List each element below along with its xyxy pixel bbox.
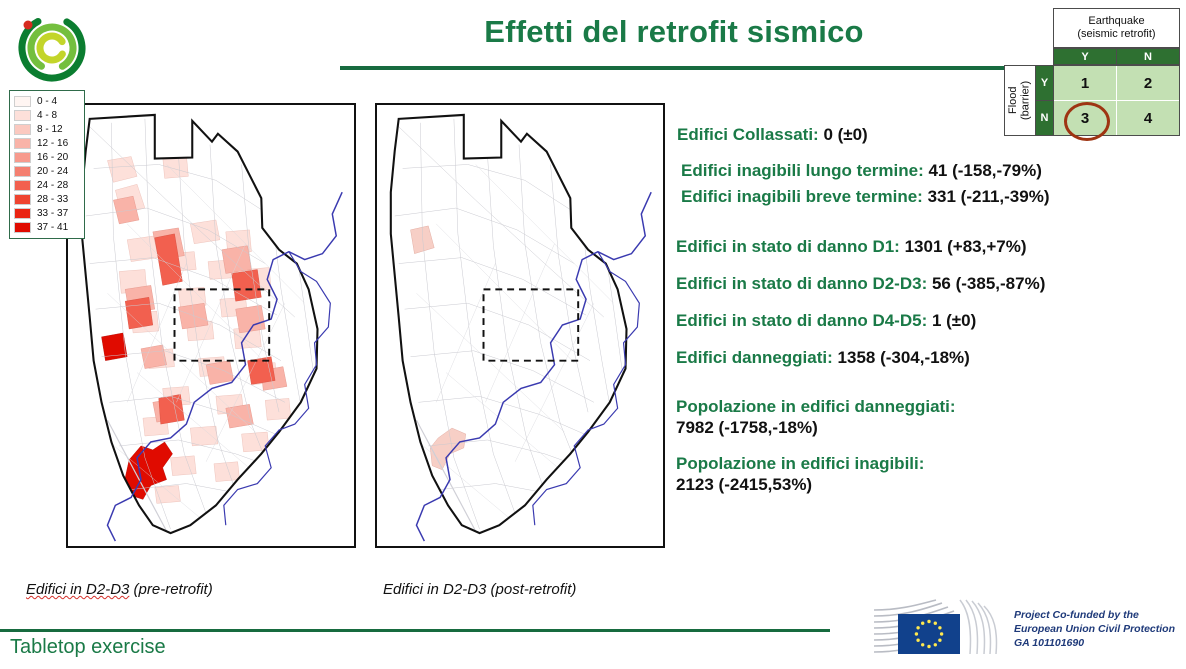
eu-funding-line2: European Union Civil Protection [1014,622,1178,636]
legend-swatch [14,166,31,177]
caption-pre-retrofit: Edifici in D2-D3 (pre-retrofit) [26,581,213,598]
caption-pre-retrofit-main: Edifici in D2-D3 [26,581,129,598]
stat-pop-danneggiati-label: Popolazione in edifici danneggiati: [676,396,1181,417]
project-logo-icon [12,8,92,86]
slide-title: Effetti del retrofit sismico [338,14,1010,50]
title-divider [340,66,1010,70]
legend-swatch [14,222,31,233]
legend-swatch [14,96,31,107]
stat-danno-d2d3-value: 56 (-385,-87%) [932,274,1045,293]
stat-danno-d1: Edifici in stato di danno D1: 1301 (+83,… [676,238,1181,255]
legend-swatch [14,180,31,191]
stat-inagibili-lungo-value: 41 (-158,-79%) [928,161,1041,180]
eu-funding-line3: GA 101101690 [1014,636,1178,650]
stat-danno-d2d3: Edifici in stato di danno D2-D3: 56 (-38… [676,275,1181,292]
legend-label: 0 - 4 [37,96,57,107]
matrix-cell-2[interactable]: 2 [1116,65,1180,101]
legend-label: 12 - 16 [37,138,68,149]
stat-pop-inagibili: Popolazione in edifici inagibili: 2123 (… [676,453,1181,496]
matrix-row-header-y: Y [1035,65,1054,101]
stat-danno-d1-label: Edifici in stato di danno D1: [676,237,900,256]
legend-row: 16 - 20 [14,150,81,164]
legend-label: 20 - 24 [37,166,68,177]
legend-row: 20 - 24 [14,164,81,178]
legend-swatch [14,194,31,205]
stat-pop-inagibili-label: Popolazione in edifici inagibili: [676,453,1181,474]
legend-label: 33 - 37 [37,208,68,219]
footer-divider [0,629,830,632]
stat-inagibili-breve: Edifici inagibili breve termine: 331 (-2… [681,188,1181,205]
matrix-row-group-line2: (barrier) [1020,81,1032,120]
statistics-panel: Edifici Collassati: 0 (±0) Edifici inagi… [676,126,1181,509]
caption-pre-retrofit-suffix: (pre-retrofit) [129,581,212,598]
legend-swatch [14,208,31,219]
matrix-column-group-header: Earthquake (seismic retrofit) [1053,8,1180,48]
stat-danno-d4d5-label: Edifici in stato di danno D4-D5: [676,311,927,330]
stat-danno-d2d3-label: Edifici in stato di danno D2-D3: [676,274,927,293]
stat-danno-d4d5-value: 1 (±0) [932,311,976,330]
legend-swatch [14,152,31,163]
legend-label: 28 - 33 [37,194,68,205]
stat-inagibili-breve-value: 331 (-211,-39%) [928,187,1050,206]
legend-label: 37 - 41 [37,222,68,233]
legend-row: 4 - 8 [14,108,81,122]
footer-label: Tabletop exercise [10,636,166,659]
legend-swatch [14,110,31,121]
matrix-col-header-n: N [1116,48,1180,65]
slide-canvas: Effetti del retrofit sismico Earthquake … [0,0,1186,669]
stat-danno-d4d5: Edifici in stato di danno D4-D5: 1 (±0) [676,312,1181,329]
stat-pop-danneggiati-value: 7982 (-1758,-18%) [676,417,1181,438]
stat-collassati: Edifici Collassati: 0 (±0) [677,126,1181,143]
legend-row: 33 - 37 [14,206,81,220]
eu-funding-line1: Project Co-funded by the [1014,608,1178,622]
map-pre-retrofit[interactable] [66,103,356,548]
stat-inagibili-lungo-label: Edifici inagibili lungo termine: [681,161,924,180]
legend-label: 4 - 8 [37,110,57,121]
matrix-column-group-line1: Earthquake [1077,15,1155,28]
stat-pop-danneggiati: Popolazione in edifici danneggiati: 7982… [676,396,1181,439]
map-pre-retrofit-graphic [68,105,354,546]
legend-label: 16 - 20 [37,152,68,163]
stat-collassati-value: 0 (±0) [823,125,867,144]
stat-danno-d1-value: 1301 (+83,+7%) [905,237,1027,256]
stat-inagibili-breve-label: Edifici inagibili breve termine: [681,187,923,206]
map-legend: 0 - 44 - 88 - 1212 - 1616 - 2020 - 2424 … [9,90,85,239]
legend-swatch [14,138,31,149]
legend-row: 37 - 41 [14,220,81,234]
stat-collassati-label: Edifici Collassati: [677,125,819,144]
legend-label: 8 - 12 [37,124,63,135]
stat-danneggiati-value: 1358 (-304,-18%) [838,348,970,367]
european-commission-logo-icon [872,598,1006,658]
stat-pop-inagibili-value: 2123 (-2415,53%) [676,474,1181,495]
map-post-retrofit[interactable] [375,103,665,548]
stat-danneggiati: Edifici danneggiati: 1358 (-304,-18%) [676,349,1181,366]
matrix-row-group-line1: Flood [1007,87,1019,115]
legend-row: 24 - 28 [14,178,81,192]
legend-row: 0 - 4 [14,94,81,108]
legend-row: 12 - 16 [14,136,81,150]
scenario-matrix: Earthquake (seismic retrofit) Y N Flood … [1004,8,1180,136]
map-post-retrofit-graphic [377,105,663,546]
stat-danneggiati-label: Edifici danneggiati: [676,348,833,367]
legend-row: 8 - 12 [14,122,81,136]
legend-swatch [14,124,31,135]
eu-funding-text: Project Co-funded by the European Union … [1014,608,1178,651]
legend-row: 28 - 33 [14,192,81,206]
legend-label: 24 - 28 [37,180,68,191]
caption-post-retrofit: Edifici in D2-D3 (post-retrofit) [383,581,576,598]
eu-funding-block: Project Co-funded by the European Union … [872,598,1178,660]
matrix-col-header-y: Y [1053,48,1117,65]
matrix-cell-1[interactable]: 1 [1053,65,1117,101]
stat-inagibili-lungo: Edifici inagibili lungo termine: 41 (-15… [681,162,1181,179]
matrix-column-group-line2: (seismic retrofit) [1077,28,1155,41]
